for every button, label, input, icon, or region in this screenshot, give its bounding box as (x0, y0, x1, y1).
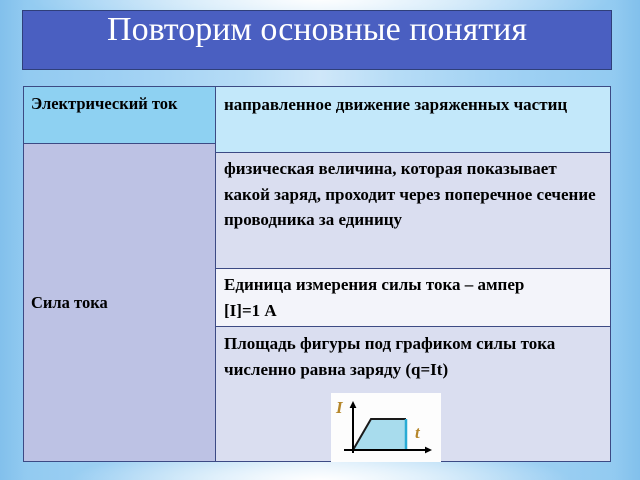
term-label-current-strength: Сила тока (31, 293, 108, 313)
definition-text-charge-as-area: Площадь фигуры под графиком силы тока чи… (224, 331, 602, 382)
current-vs-time-graph-image: I t (331, 393, 441, 462)
slide-canvas: Повторим основные понятия Электрический … (0, 0, 640, 480)
concepts-table: Электрический ток Сила тока направленное… (23, 86, 611, 462)
table-cell-unit-of-current: Единица измерения силы тока – ампер [I]=… (215, 268, 611, 327)
definition-text-current-strength: физическая величина, которая показывает … (224, 156, 602, 233)
title-banner (22, 10, 612, 70)
table-cell-term-electric-current: Электрический ток (23, 86, 216, 144)
current-vs-time-graph-svg: I t (331, 393, 441, 462)
table-cell-definition-current-strength: физическая величина, которая показывает … (215, 152, 611, 269)
term-label-electric-current: Электрический ток (31, 93, 208, 114)
x-axis-label: t (415, 423, 421, 442)
definition-text-unit-of-current: Единица измерения силы тока – ампер [I]=… (224, 272, 602, 323)
y-axis-label: I (335, 398, 344, 417)
y-axis-arrow (350, 401, 357, 408)
table-cell-definition-electric-current: направленное движение заряженных частиц (215, 86, 611, 153)
background-right-edge (614, 0, 640, 480)
definition-text-electric-current: направленное движение заряженных частиц (224, 92, 602, 117)
x-axis-arrow (425, 447, 432, 454)
table-cell-term-current-strength: Сила тока (23, 143, 216, 462)
